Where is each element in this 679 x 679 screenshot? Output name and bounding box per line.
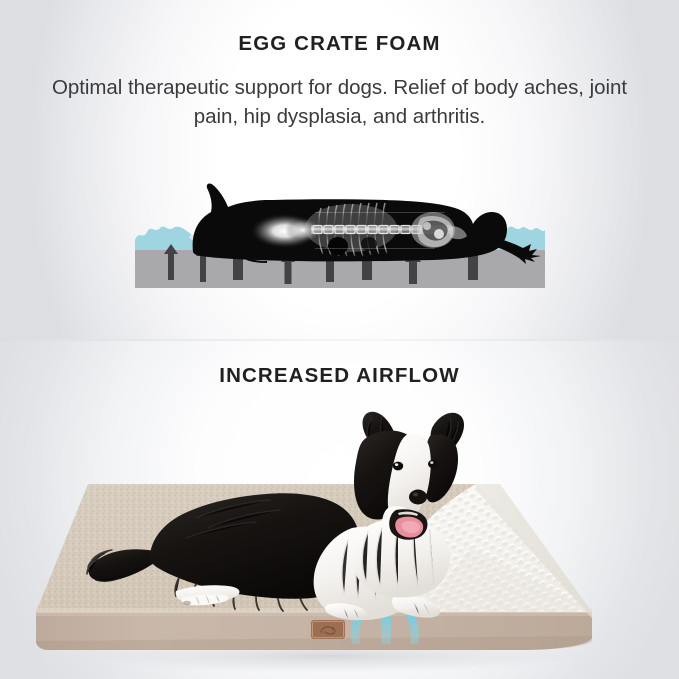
dog-nose xyxy=(409,490,427,505)
page-title-egg-crate-foam: EGG CRATE FOAM xyxy=(0,32,679,56)
border-collie-on-orthopedic-dog-bed-photo xyxy=(0,398,679,679)
dog-xray-on-foam-diagram xyxy=(133,168,547,304)
dog-silhouette xyxy=(193,184,541,264)
egg-crate-foam-description: Optimal therapeutic support for dogs. Re… xyxy=(30,73,649,131)
brand-logo-patch xyxy=(311,620,345,639)
egg-crate-foam-panel: EGG CRATE FOAM Optimal therapeutic suppo… xyxy=(0,0,679,341)
page-title-increased-airflow: INCREASED AIRFLOW xyxy=(0,364,679,388)
